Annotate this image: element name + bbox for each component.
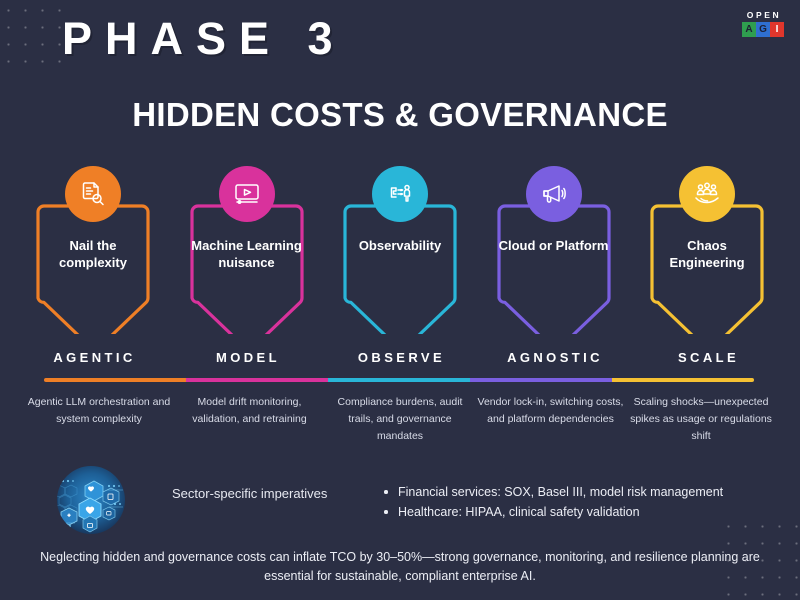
category-row: AGENTICMODELOBSERVEAGNOSTICSCALE — [26, 350, 774, 365]
badge-label: Nail the complexity — [34, 238, 152, 271]
page-title: HIDDEN COSTS & GOVERNANCE — [0, 96, 800, 134]
document-search-icon — [65, 166, 121, 222]
badge-label: Observability — [341, 238, 459, 255]
logo-letter-a: A — [742, 22, 756, 37]
logo-agi-blocks: A G I — [742, 22, 784, 37]
logo-letter-g: G — [756, 22, 770, 37]
category-label-observe: OBSERVE — [333, 350, 467, 365]
badge-row: Nail the complexityMachine Learning nuis… — [26, 166, 774, 344]
category-label-scale: SCALE — [640, 350, 774, 365]
rule-segment — [186, 378, 328, 382]
badge-scale[interactable]: Chaos Engineering — [640, 166, 774, 344]
description-text: Agentic LLM orchestration and system com… — [26, 394, 172, 445]
description-text: Scaling shocks—unexpected spikes as usag… — [628, 394, 774, 445]
category-label-model: MODEL — [180, 350, 314, 365]
badge-label: Cloud or Platform — [495, 238, 613, 255]
megaphone-icon — [526, 166, 582, 222]
hand-team-icon — [679, 166, 735, 222]
category-label-agnostic: AGNOSTIC — [487, 350, 621, 365]
logo-letter-i: I — [770, 22, 784, 37]
sector-bullet: Healthcare: HIPAA, clinical safety valid… — [382, 502, 723, 522]
magnet-person-icon — [372, 166, 428, 222]
description-text: Vendor lock-in, switching costs, and pla… — [478, 394, 624, 445]
category-label-agentic: AGENTIC — [26, 350, 160, 365]
badge-label: Machine Learning nuisance — [188, 238, 306, 271]
rule-segment — [470, 378, 612, 382]
video-player-icon — [219, 166, 275, 222]
badge-observe[interactable]: Observability — [333, 166, 467, 344]
phase-title: PHASE 3 — [62, 12, 346, 66]
openagi-logo: OPEN A G I — [742, 10, 784, 37]
badge-agnostic[interactable]: Cloud or Platform — [487, 166, 621, 344]
rule-segment — [328, 378, 470, 382]
sector-label: Sector-specific imperatives — [172, 486, 327, 501]
sector-bullet: Financial services: SOX, Basel III, mode… — [382, 482, 723, 502]
logo-open-text: OPEN — [742, 10, 784, 20]
badge-agentic[interactable]: Nail the complexity — [26, 166, 160, 344]
dot-pattern-top-left — [0, 2, 62, 72]
color-rule — [44, 378, 754, 382]
description-text: Model drift monitoring, validation, and … — [177, 394, 323, 445]
badge-model[interactable]: Machine Learning nuisance — [180, 166, 314, 344]
footer-summary: Neglecting hidden and governance costs c… — [40, 548, 760, 586]
healthcare-tech-graphic — [45, 466, 137, 534]
sector-bullet-list: Financial services: SOX, Basel III, mode… — [382, 482, 723, 522]
badge-label: Chaos Engineering — [648, 238, 766, 271]
rule-segment — [44, 378, 186, 382]
rule-segment — [612, 378, 754, 382]
description-row: Agentic LLM orchestration and system com… — [26, 394, 774, 445]
infographic-slide: OPEN A G I PHASE 3 HIDDEN COSTS & GOVERN… — [0, 0, 800, 600]
description-text: Compliance burdens, audit trails, and go… — [327, 394, 473, 445]
